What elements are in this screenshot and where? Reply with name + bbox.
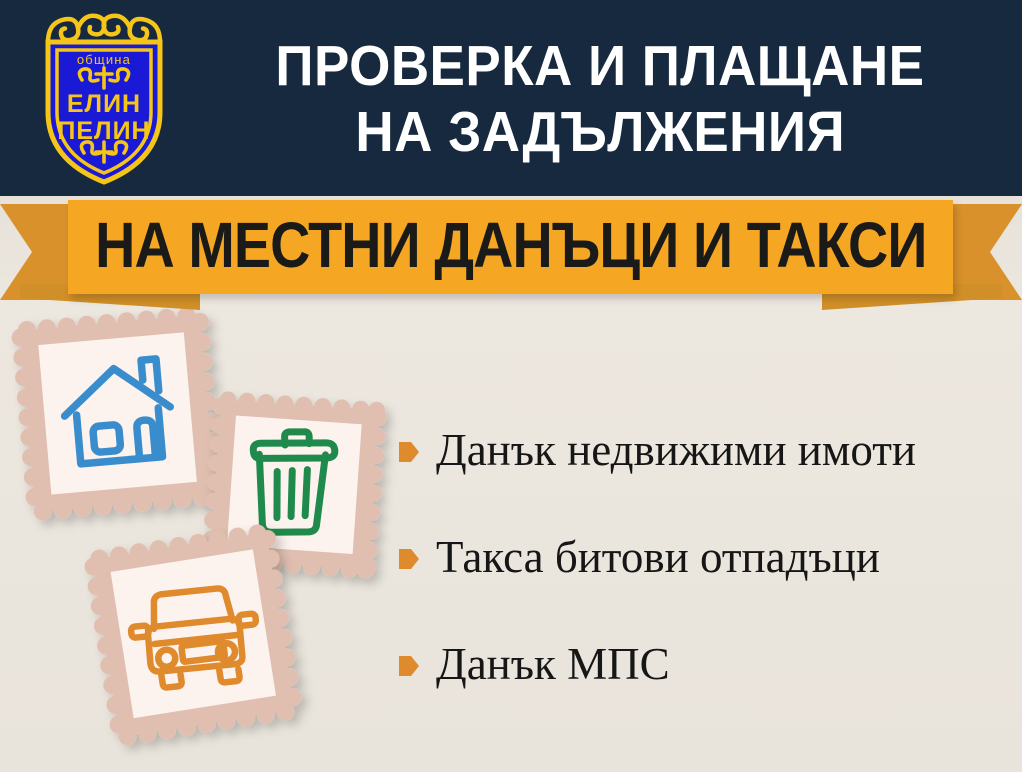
list-item: Данък МПС — [398, 638, 1008, 690]
stamp-house — [9, 303, 237, 532]
svg-text:ЕЛИН: ЕЛИН — [67, 90, 141, 118]
list-item-label: Данък недвижими имоти — [436, 424, 916, 476]
bullet-arrow-icon — [398, 439, 420, 465]
poster-canvas: община ЕЛИН ПЕЛИН ПРОВЕРКА И ПЛАЩАНЕ НА … — [0, 0, 1022, 772]
bullet-arrow-icon — [398, 546, 420, 572]
ribbon-box: НА МЕСТНИ ДАНЪЦИ И ТАКСИ — [68, 200, 953, 294]
tax-types-list: Данък недвижими имоти Такса битови отпад… — [398, 424, 1008, 690]
ribbon-banner: НА МЕСТНИ ДАНЪЦИ И ТАКСИ — [0, 196, 1022, 311]
bullet-arrow-icon — [398, 653, 420, 679]
list-item-label: Данък МПС — [436, 638, 670, 690]
list-item-label: Такса битови отпадъци — [436, 531, 880, 583]
title-line-1: ПРОВЕРКА И ПЛАЩАНЕ — [275, 33, 924, 99]
title-line-2: НА ЗАДЪЛЖЕНИЯ — [355, 99, 845, 165]
list-item: Такса битови отпадъци — [398, 531, 1008, 583]
stamp-car — [81, 519, 316, 757]
svg-text:община: община — [77, 52, 131, 67]
page-title: ПРОВЕРКА И ПЛАЩАНЕ НА ЗАДЪЛЖЕНИЯ — [190, 14, 1010, 184]
coat-of-arms-icon: община ЕЛИН ПЕЛИН — [24, 8, 184, 188]
list-item: Данък недвижими имоти — [398, 424, 1008, 476]
ribbon-label: НА МЕСТНИ ДАНЪЦИ И ТАКСИ — [95, 213, 926, 277]
